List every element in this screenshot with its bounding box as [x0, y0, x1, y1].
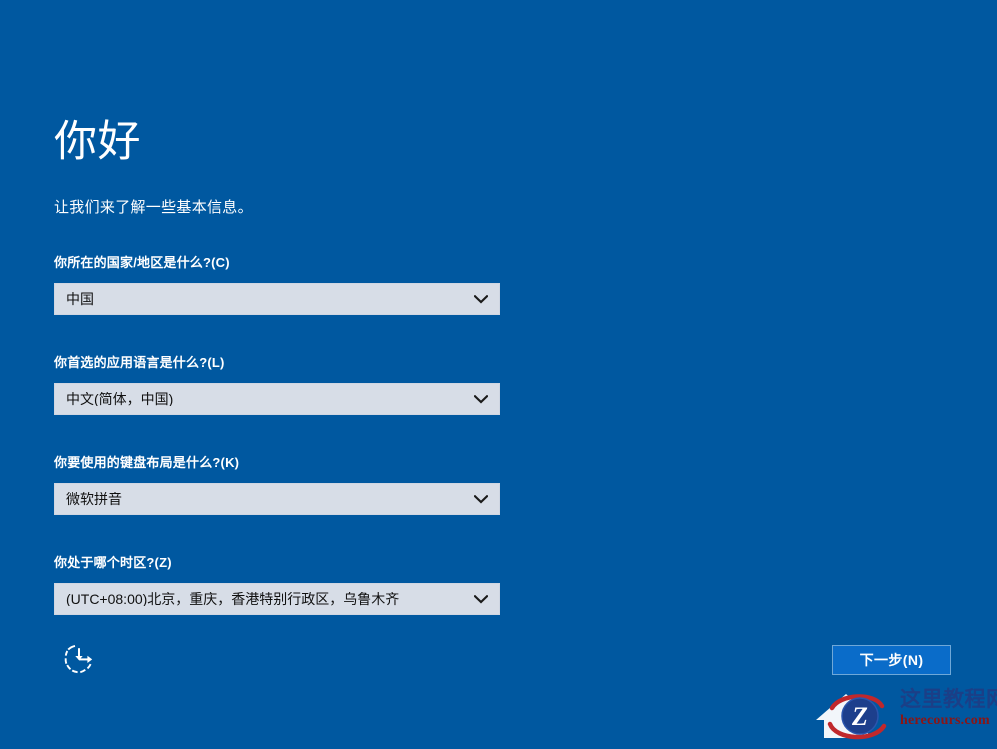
- heading-block: 你好 让我们来了解一些基本信息。: [54, 118, 674, 217]
- time-zone-dropdown[interactable]: (UTC+08:00)北京，重庆，香港特别行政区，乌鲁木齐: [54, 583, 500, 615]
- time-zone-value: (UTC+08:00)北京，重庆，香港特别行政区，乌鲁木齐: [55, 592, 499, 606]
- watermark-text-block: 这里教程网 herecours.com: [900, 688, 997, 729]
- label-keyboard-layout: 你要使用的键盘布局是什么?(K): [54, 452, 500, 471]
- watermark-url: herecours.com: [900, 713, 997, 729]
- keyboard-layout-value: 微软拼音: [55, 492, 499, 506]
- field-group-time-zone: 你处于哪个时区?(Z) (UTC+08:00)北京，重庆，香港特别行政区，乌鲁木…: [54, 552, 500, 615]
- next-button[interactable]: 下一步(N): [832, 645, 951, 675]
- ease-of-access-icon: [62, 642, 96, 676]
- settings-form: 你所在的国家/地区是什么?(C) 中国 你首选的应用语言是什么?(L) 中文(简…: [54, 252, 500, 615]
- ease-of-access-button[interactable]: [58, 638, 100, 680]
- watermark-title: 这里教程网: [900, 688, 997, 711]
- app-language-value: 中文(简体，中国): [55, 392, 499, 406]
- app-language-dropdown[interactable]: 中文(简体，中国): [54, 383, 500, 415]
- label-time-zone: 你处于哪个时区?(Z): [54, 552, 500, 571]
- page-subtitle: 让我们来了解一些基本信息。: [54, 166, 674, 217]
- watermark: Z 这里教程网 herecours.com: [812, 686, 997, 744]
- watermark-logo-icon: Z: [812, 686, 908, 744]
- country-region-value: 中国: [55, 292, 499, 306]
- country-region-dropdown[interactable]: 中国: [54, 283, 500, 315]
- field-group-country-region: 你所在的国家/地区是什么?(C) 中国: [54, 252, 500, 315]
- field-group-keyboard-layout: 你要使用的键盘布局是什么?(K) 微软拼音: [54, 452, 500, 515]
- label-app-language: 你首选的应用语言是什么?(L): [54, 352, 500, 371]
- label-country-region: 你所在的国家/地区是什么?(C): [54, 252, 500, 271]
- oobe-setup-screen: 你好 让我们来了解一些基本信息。 你所在的国家/地区是什么?(C) 中国 你首选…: [0, 0, 997, 744]
- page-title: 你好: [54, 118, 674, 166]
- svg-text:Z: Z: [851, 702, 868, 731]
- keyboard-layout-dropdown[interactable]: 微软拼音: [54, 483, 500, 515]
- field-group-app-language: 你首选的应用语言是什么?(L) 中文(简体，中国): [54, 352, 500, 415]
